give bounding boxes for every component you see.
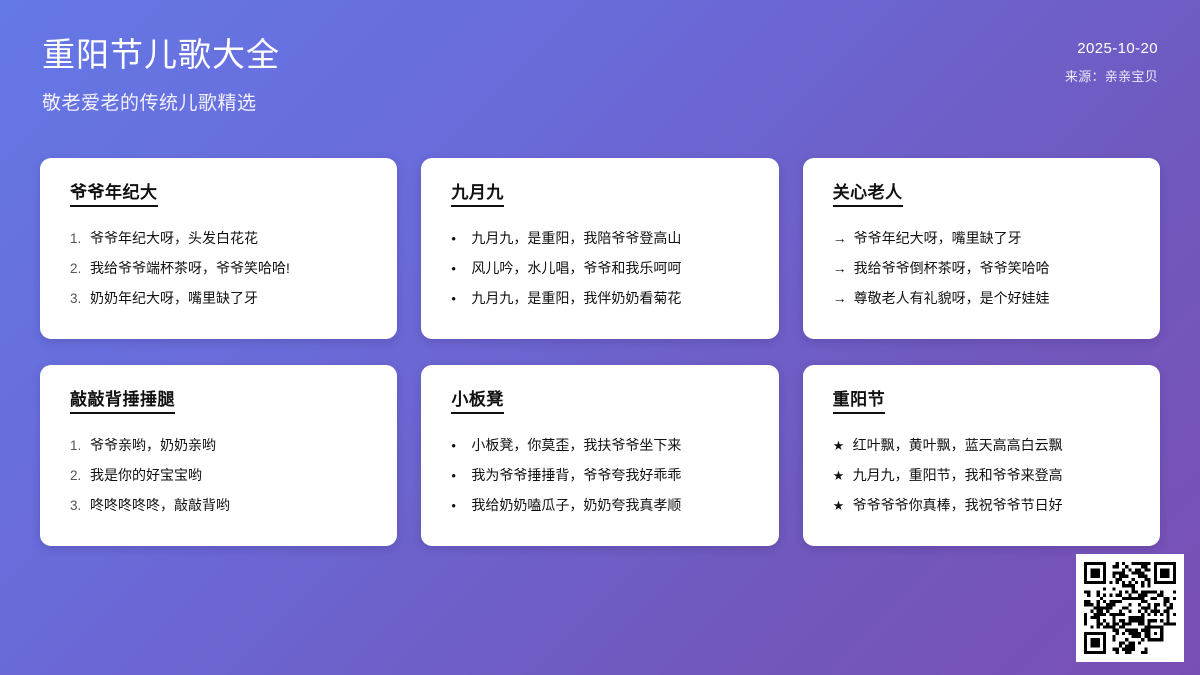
song-line-text: 爷爷年纪大呀，头发白花花 [90, 224, 258, 253]
song-line-text: 咚咚咚咚咚，敲敲背哟 [90, 491, 230, 520]
song-line-text: 我给奶奶嗑瓜子，奶奶夸我真孝顺 [471, 491, 681, 520]
song-line: •小板凳，你莫歪，我扶爷爷坐下来 [451, 431, 750, 460]
song-line: 2.我是你的好宝宝哟 [70, 461, 369, 490]
qr-code-image [1084, 562, 1176, 654]
song-line-list: →爷爷年纪大呀，嘴里缺了牙→我给爷爷倒杯茶呀，爷爷笑哈哈→尊敬老人有礼貌呀，是个… [833, 224, 1132, 313]
song-line-marker: 3. [70, 285, 83, 313]
song-line-text: 九月九，重阳节，我和爷爷来登高 [853, 461, 1063, 490]
song-line: •风儿吟，水儿唱，爷爷和我乐呵呵 [451, 254, 750, 283]
song-line-text: 爷爷年纪大呀，嘴里缺了牙 [854, 224, 1022, 253]
header-meta-group: 2025-10-20 来源：亲亲宝贝 [1065, 34, 1158, 85]
song-card-title: 关心老人 [833, 184, 903, 207]
song-line: →尊敬老人有礼貌呀，是个好娃娃 [833, 284, 1132, 313]
song-line: •我为爷爷捶捶背，爷爷夸我好乖乖 [451, 461, 750, 490]
qr-code[interactable] [1076, 554, 1184, 662]
song-line-marker: 1. [70, 225, 83, 253]
song-line: →爷爷年纪大呀，嘴里缺了牙 [833, 224, 1132, 253]
song-card[interactable]: 爷爷年纪大1.爷爷年纪大呀，头发白花花2.我给爷爷端杯茶呀，爷爷笑哈哈!3.奶奶… [40, 158, 397, 339]
song-line: 3.咚咚咚咚咚，敲敲背哟 [70, 491, 369, 520]
song-line-marker: • [451, 225, 464, 252]
song-line-text: 九月九，是重阳，我陪爷爷登高山 [471, 224, 681, 253]
song-line-text: 尊敬老人有礼貌呀，是个好娃娃 [854, 284, 1050, 313]
song-line-text: 爷爷亲哟，奶奶亲哟 [90, 431, 216, 460]
song-card[interactable]: 小板凳•小板凳，你莫歪，我扶爷爷坐下来•我为爷爷捶捶背，爷爷夸我好乖乖•我给奶奶… [421, 365, 778, 546]
song-card[interactable]: 敲敲背捶捶腿1.爷爷亲哟，奶奶亲哟2.我是你的好宝宝哟3.咚咚咚咚咚，敲敲背哟 [40, 365, 397, 546]
song-line-list: 1.爷爷亲哟，奶奶亲哟2.我是你的好宝宝哟3.咚咚咚咚咚，敲敲背哟 [70, 431, 369, 520]
song-line-marker: • [451, 462, 464, 489]
song-card[interactable]: 重阳节★红叶飘，黄叶飘，蓝天高高白云飘★九月九，重阳节，我和爷爷来登高★爷爷爷爷… [803, 365, 1160, 546]
song-line-marker: • [451, 492, 464, 519]
song-line-marker: • [451, 432, 464, 459]
song-card-title: 小板凳 [451, 391, 504, 414]
song-card-grid: 爷爷年纪大1.爷爷年纪大呀，头发白花花2.我给爷爷端杯茶呀，爷爷笑哈哈!3.奶奶… [40, 158, 1160, 546]
song-line-marker: 2. [70, 255, 83, 283]
song-line-list: •九月九，是重阳，我陪爷爷登高山•风儿吟，水儿唱，爷爷和我乐呵呵•九月九，是重阳… [451, 224, 750, 313]
song-line-marker: 2. [70, 462, 83, 490]
publish-date: 2025-10-20 [1077, 40, 1158, 57]
song-line-text: 小板凳，你莫歪，我扶爷爷坐下来 [471, 431, 681, 460]
song-card-title: 敲敲背捶捶腿 [70, 391, 175, 414]
song-line: 2.我给爷爷端杯茶呀，爷爷笑哈哈! [70, 254, 369, 283]
song-line-text: 我是你的好宝宝哟 [90, 461, 202, 490]
song-card[interactable]: 九月九•九月九，是重阳，我陪爷爷登高山•风儿吟，水儿唱，爷爷和我乐呵呵•九月九，… [421, 158, 778, 339]
page-title: 重阳节儿歌大全 [42, 34, 280, 75]
song-line-text: 红叶飘，黄叶飘，蓝天高高白云飘 [853, 431, 1063, 460]
song-line: ★红叶飘，黄叶飘，蓝天高高白云飘 [833, 431, 1132, 460]
page-header: 重阳节儿歌大全 敬老爱老的传统儿歌精选 2025-10-20 来源：亲亲宝贝 [0, 0, 1200, 150]
song-line-list: 1.爷爷年纪大呀，头发白花花2.我给爷爷端杯茶呀，爷爷笑哈哈!3.奶奶年纪大呀，… [70, 224, 369, 313]
song-line-marker: 1. [70, 432, 83, 460]
song-line: •九月九，是重阳，我陪爷爷登高山 [451, 224, 750, 253]
source-label: 来源：亲亲宝贝 [1065, 66, 1158, 85]
song-line-list: •小板凳，你莫歪，我扶爷爷坐下来•我为爷爷捶捶背，爷爷夸我好乖乖•我给奶奶嗑瓜子… [451, 431, 750, 520]
song-line: •我给奶奶嗑瓜子，奶奶夸我真孝顺 [451, 491, 750, 520]
song-line-text: 奶奶年纪大呀，嘴里缺了牙 [90, 284, 258, 313]
song-line-marker: → [833, 284, 847, 313]
song-line-text: 我给爷爷端杯茶呀，爷爷笑哈哈! [90, 254, 290, 283]
song-line: 1.爷爷年纪大呀，头发白花花 [70, 224, 369, 253]
song-line: •九月九，是重阳，我伴奶奶看菊花 [451, 284, 750, 313]
song-line: ★九月九，重阳节，我和爷爷来登高 [833, 461, 1132, 490]
song-line-marker: 3. [70, 492, 83, 520]
song-card-title: 重阳节 [833, 391, 886, 414]
song-line-text: 我为爷爷捶捶背，爷爷夸我好乖乖 [471, 461, 681, 490]
song-line: 3.奶奶年纪大呀，嘴里缺了牙 [70, 284, 369, 313]
song-line-marker: ★ [833, 462, 846, 489]
song-line-text: 爷爷爷爷你真棒，我祝爷爷节日好 [853, 491, 1063, 520]
song-card-title: 九月九 [451, 184, 504, 207]
song-line-marker: ★ [833, 432, 846, 459]
header-title-group: 重阳节儿歌大全 敬老爱老的传统儿歌精选 [42, 34, 280, 115]
song-line-text: 风儿吟，水儿唱，爷爷和我乐呵呵 [471, 254, 681, 283]
page-subtitle: 敬老爱老的传统儿歌精选 [42, 88, 280, 115]
song-line: ★爷爷爷爷你真棒，我祝爷爷节日好 [833, 491, 1132, 520]
song-line-marker: • [451, 255, 464, 282]
song-line-marker: → [833, 254, 847, 283]
song-line: →我给爷爷倒杯茶呀，爷爷笑哈哈 [833, 254, 1132, 283]
song-card-title: 爷爷年纪大 [70, 184, 158, 207]
song-line-marker: • [451, 285, 464, 312]
song-line: 1.爷爷亲哟，奶奶亲哟 [70, 431, 369, 460]
song-line-list: ★红叶飘，黄叶飘，蓝天高高白云飘★九月九，重阳节，我和爷爷来登高★爷爷爷爷你真棒… [833, 431, 1132, 520]
song-line-text: 九月九，是重阳，我伴奶奶看菊花 [471, 284, 681, 313]
song-card[interactable]: 关心老人→爷爷年纪大呀，嘴里缺了牙→我给爷爷倒杯茶呀，爷爷笑哈哈→尊敬老人有礼貌… [803, 158, 1160, 339]
song-line-marker: → [833, 224, 847, 253]
song-line-marker: ★ [833, 492, 846, 519]
song-line-text: 我给爷爷倒杯茶呀，爷爷笑哈哈 [854, 254, 1050, 283]
